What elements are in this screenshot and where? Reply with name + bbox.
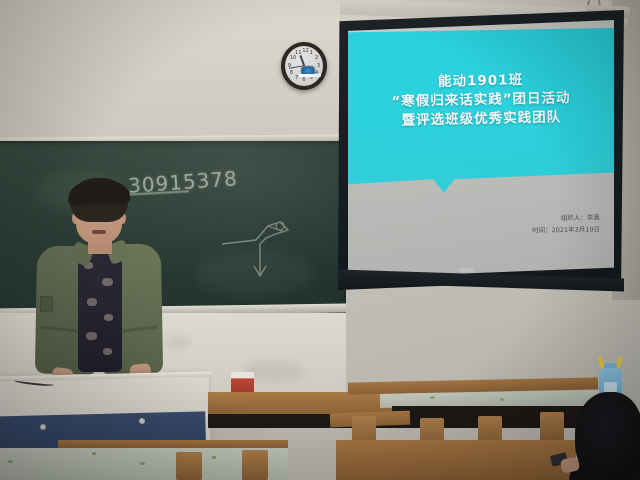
clock-numeral-2: 2 [315,56,318,61]
chair-back [540,412,564,442]
shirt-pattern [103,348,112,355]
clock-numeral-10: 10 [290,56,296,61]
shirt-pattern [86,332,97,340]
shirt-pattern [87,298,97,306]
clock-numeral-7: 7 [295,76,298,81]
clock-face: 121234567891011 [285,46,323,86]
presenter [34,178,166,390]
wall-clock: 121234567891011 [281,42,327,90]
seated-student [575,392,640,480]
slide-date: 时间：2021年3月10日 [532,223,600,236]
clock-numeral-3: 3 [317,64,320,69]
desk-speckle [140,462,145,465]
paper-cup [231,372,254,394]
chair-back [176,452,202,480]
bottle-label [604,382,617,392]
desk-speckle [8,460,13,463]
clock-numeral-12: 12 [302,49,308,54]
desk-front-left-edge [58,440,288,448]
clock-glare [299,74,321,77]
screen-surface: 能动1901班 “寒假归来话实践”团日活动 暨评选班级优秀实践团队 组织人：李奥… [348,20,614,278]
desk-speckle [430,396,435,399]
patterned-shirt [78,248,122,372]
hair-fringe [68,181,131,205]
desk-speckle [500,398,504,401]
clock-numeral-6: 6 [302,78,305,83]
clock-numeral-8: 8 [290,71,293,76]
desk-speckle [212,456,216,459]
clock-numeral-1: 1 [310,51,313,56]
student-hair [575,392,640,480]
slide-title: 能动1901班 “寒假归来话实践”团日活动 暨评选班级优秀实践团队 [348,69,614,132]
lectern-knob [139,418,145,424]
lectern-knob [40,424,46,430]
jacket-sleeve-patch [40,296,53,312]
classroom-photo: 121234567891011 30915378 能动1901班 [0,0,640,480]
desk-row-back [208,392,394,414]
wall-scuff [164,335,190,349]
desktop-surface-left-edge [0,448,60,480]
desk-speckle [92,452,96,455]
shirt-pattern [104,314,113,321]
mouth [92,230,106,234]
slide-meta: 组织人：李奥 时间：2021年3月10日 [532,211,600,236]
desk-front-right [336,440,576,480]
projection-screen: 能动1901班 “寒假归来话实践”团日活动 暨评选班级优秀实践团队 组织人：李奥… [336,2,628,294]
chalk-diagram-icon [222,218,312,280]
shirt-pattern [102,278,113,286]
chair-back [242,450,268,480]
